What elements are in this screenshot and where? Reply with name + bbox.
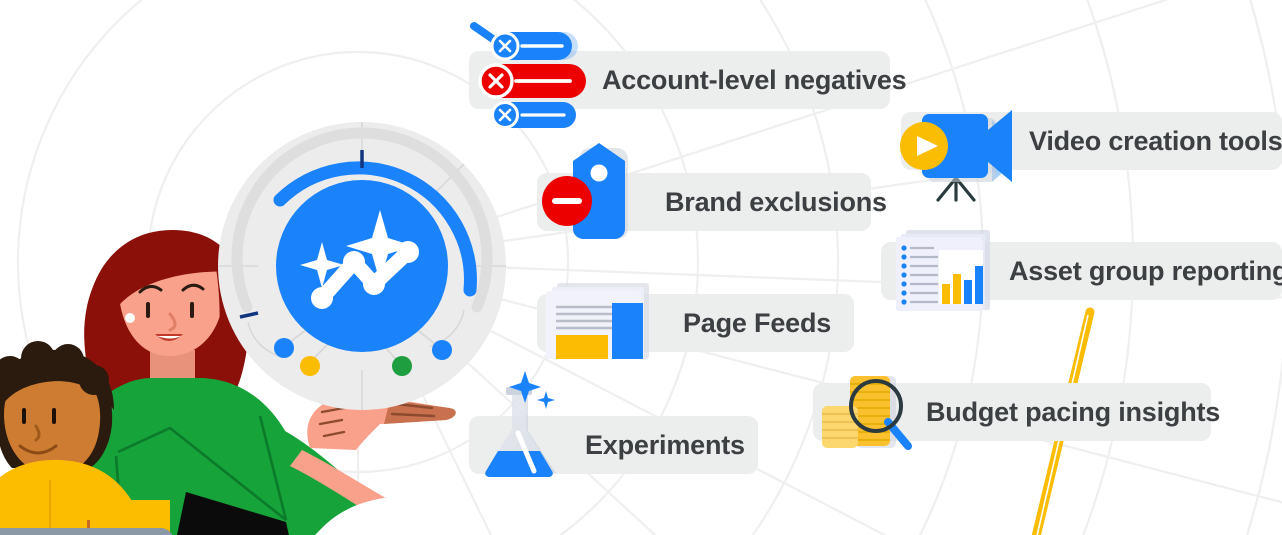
gauge-dial (218, 122, 506, 410)
card-label-budget-pacing-insights: Budget pacing insights (926, 399, 1220, 426)
card-label-experiments: Experiments (585, 432, 745, 459)
card-label-page-feeds: Page Feeds (683, 310, 831, 337)
coins-magnifier-icon (816, 372, 928, 454)
report-bar-chart-icon (890, 228, 1002, 314)
card-label-account-level-negatives: Account-level negatives (602, 67, 907, 94)
card-label-asset-group-reporting: Asset group reporting (1009, 258, 1282, 285)
blocked-list-icon (464, 22, 594, 132)
card-label-brand-exclusions: Brand exclusions (665, 189, 887, 216)
document-page-icon (540, 281, 665, 363)
illustration-canvas: Account-level negatives Brand exclusions (0, 0, 1282, 535)
tag-minus-icon (545, 145, 655, 245)
dot-blue-right (432, 340, 452, 360)
video-camera-icon (900, 100, 1020, 200)
dot-green (392, 356, 412, 376)
flask-icon (478, 371, 588, 481)
dot-yellow (300, 356, 320, 376)
card-label-video-creation-tools: Video creation tools (1029, 128, 1282, 155)
dot-blue-left (274, 338, 294, 358)
